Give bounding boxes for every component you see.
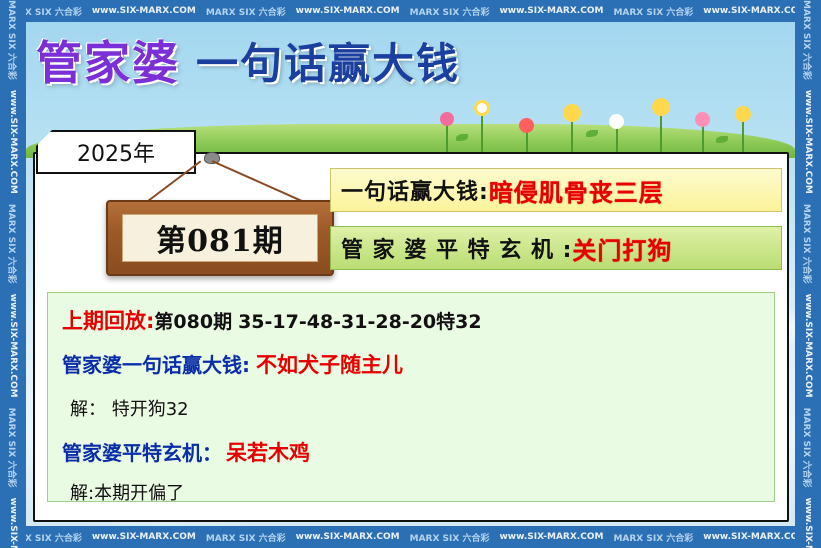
flower-blossom [695,112,710,127]
review-slogan-label: 管家婆一句话赢大钱: [62,349,250,378]
flower-blossom [474,100,490,116]
watermark-text: MARX SIX 六合彩 [206,531,286,544]
watermark-url: www.SIX-MARX.COM [8,497,18,548]
review-title-line: 上期回放: 第080期 35-17-48-31-28-20特32 [62,305,760,335]
watermark-text: MARX SIX 六合彩 [613,5,693,18]
page-header: 管家婆 一句话赢大钱 [36,30,736,90]
review-tips-line: 管家婆平特玄机： 呆若木鸡 [62,437,760,467]
watermark-text: MARX SIX 六合彩 [410,5,490,18]
watermark-url: www.SIX-MARX.COM [92,6,196,16]
watermark-text: MARX SIX 六合彩 [410,531,490,544]
watermark-border-top: MARX SIX 六合彩www.SIX-MARX.COMMARX SIX 六合彩… [0,0,821,22]
brand-title: 管家婆 [36,27,180,93]
review-slogan-line: 管家婆一句话赢大钱: 不如犬子随主儿 [62,349,760,379]
page-slogan: 一句话赢大钱 [196,30,460,91]
watermark-border-right: MARX SIX 六合彩www.SIX-MARX.COMMARX SIX 六合彩… [795,0,821,548]
watermark-url: www.SIX-MARX.COM [296,6,400,16]
review-tips-label: 管家婆平特玄机： [62,437,222,466]
previous-issue-review: 上期回放: 第080期 35-17-48-31-28-20特32 管家婆一句话赢… [47,292,775,502]
row-tips-answer: 管 家 婆 平 特 玄 机 : 关门打狗 [330,226,782,270]
review-tips-value: 呆若木鸡 [226,437,310,467]
watermark-url: www.SIX-MARX.COM [92,532,196,542]
year-label: 2025年 [77,136,155,168]
issue-sign: 第081期 [106,200,334,276]
watermark-text: MARX SIX 六合彩 [613,531,693,544]
row-slogan-answer: 一句话赢大钱: 暗侵肌骨丧三层 [330,168,782,212]
watermark-text: MARX SIX 六合彩 [802,408,815,488]
flower-blossom [652,98,670,116]
watermark-text: MARX SIX 六合彩 [802,204,815,284]
review-prev-issue: 第080期 [154,307,232,334]
watermark-url: www.SIX-MARX.COM [296,532,400,542]
issue-number: 第081期 [156,216,284,260]
watermark-border-bottom: MARX SIX 六合彩www.SIX-MARX.COMMARX SIX 六合彩… [0,526,821,548]
row-slogan-value: 暗侵肌骨丧三层 [489,173,664,208]
flower-blossom [609,114,624,129]
issue-sign-inner: 第081期 [122,214,318,262]
review-slogan-value: 不如犬子随主儿 [256,349,403,379]
row-tips-label: 管 家 婆 平 特 玄 机 : [341,232,572,264]
watermark-url: www.SIX-MARX.COM [8,90,18,194]
watermark-url: www.SIX-MARX.COM [803,294,813,398]
watermark-url: www.SIX-MARX.COM [703,532,807,542]
review-numbers: 35-17-48-31-28-20特32 [238,307,482,334]
flower-blossom [563,104,581,122]
row-slogan-label: 一句话赢大钱: [341,174,489,206]
review-title: 上期回放: [62,305,154,335]
row-tips-value: 关门打狗 [572,231,672,266]
watermark-text: MARX SIX 六合彩 [7,408,20,488]
review-tips-explain: 解:本期开偏了 [70,479,184,505]
watermark-url: www.SIX-MARX.COM [703,6,807,16]
flower-blossom [735,106,751,122]
year-tab: 2025年 [36,130,196,174]
watermark-text: MARX SIX 六合彩 [7,204,20,284]
watermark-url: www.SIX-MARX.COM [803,497,813,548]
watermark-text: MARX SIX 六合彩 [7,0,20,80]
review-tips-explain-line: 解:本期开偏了 [62,479,760,505]
watermark-url: www.SIX-MARX.COM [499,6,603,16]
watermark-text: MARX SIX 六合彩 [206,5,286,18]
review-slogan-explain: 解： 特开狗32 [70,395,189,421]
watermark-border-left: MARX SIX 六合彩www.SIX-MARX.COMMARX SIX 六合彩… [0,0,26,548]
watermark-url: www.SIX-MARX.COM [8,294,18,398]
watermark-url: www.SIX-MARX.COM [803,90,813,194]
flower-blossom [519,118,534,133]
watermark-url: www.SIX-MARX.COM [499,532,603,542]
watermark-text: MARX SIX 六合彩 [802,0,815,80]
flower-blossom [440,112,454,126]
review-slogan-explain-line: 解： 特开狗32 [62,395,760,421]
